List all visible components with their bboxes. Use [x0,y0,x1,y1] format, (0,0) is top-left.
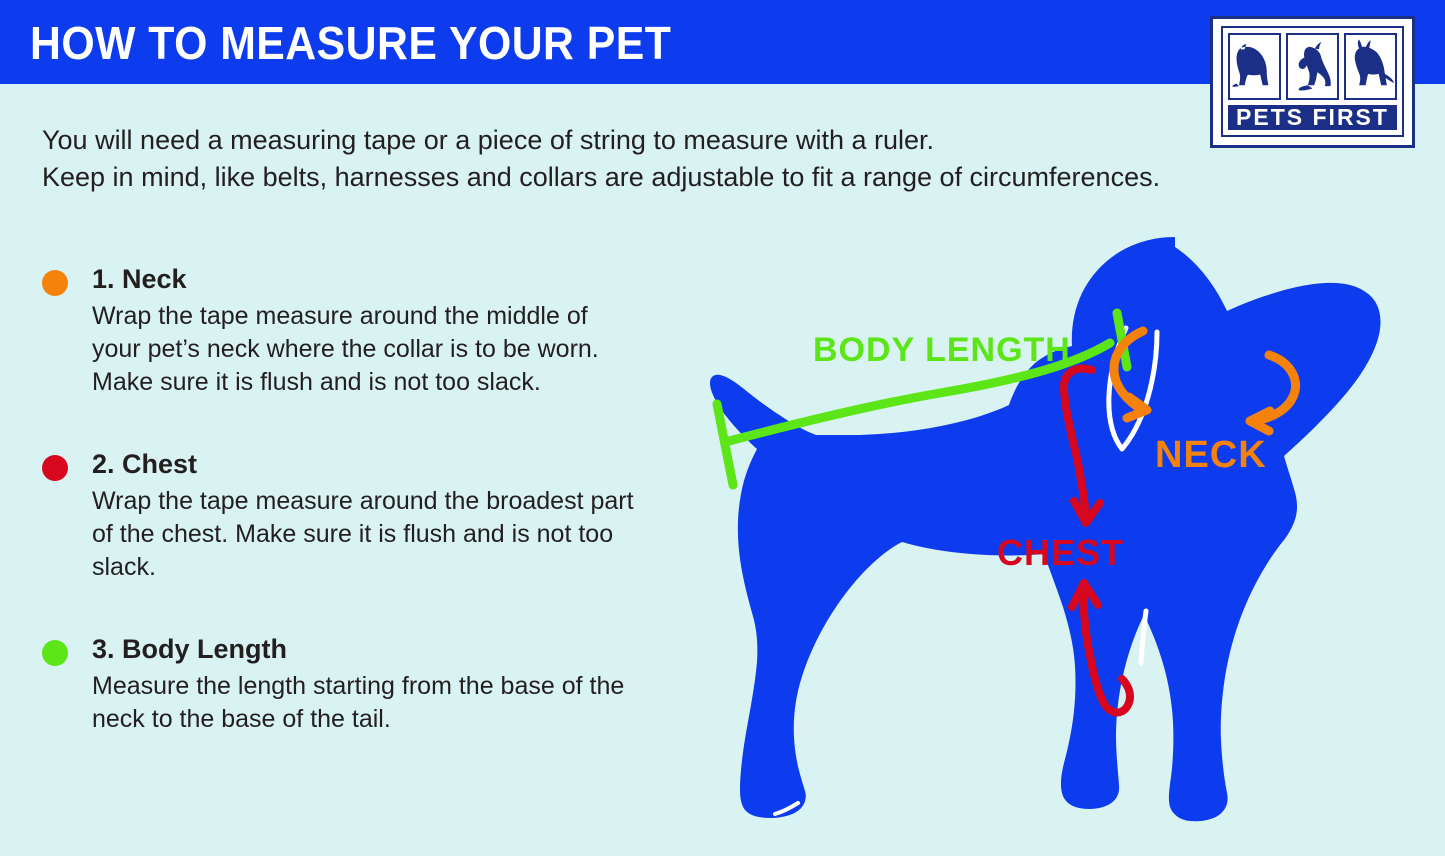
step-item-neck: 1. Neck Wrap the tape measure around the… [42,262,642,399]
brand-logo: PETS FIRST [1210,16,1415,148]
bullet-body-length-icon [42,640,68,666]
step-title-body-length: 3. Body Length [92,632,642,666]
dog-silhouette-icon [710,237,1380,821]
label-neck: NECK [1155,434,1267,476]
bullet-chest-icon [42,455,68,481]
label-chest: CHEST [997,532,1124,573]
step-body-chest: Wrap the tape measure around the broades… [92,485,642,584]
step-body-body-length: Measure the length starting from the bas… [92,670,642,736]
logo-dog-row [1228,33,1397,100]
step-title-neck: 1. Neck [92,262,642,296]
dog-howling-icon [1286,33,1339,100]
step-body-neck: Wrap the tape measure around the middle … [92,300,642,399]
dog-measurement-diagram: BODY LENGTH NECK CHEST [630,215,1445,856]
label-body-length: BODY LENGTH [813,331,1071,369]
infographic-page: HOW TO MEASURE YOUR PET [0,0,1445,856]
bullet-neck-icon [42,270,68,296]
measurement-steps-list: 1. Neck Wrap the tape measure around the… [42,262,642,736]
step-item-body-length: 3. Body Length Measure the length starti… [42,632,642,736]
step-item-chest: 2. Chest Wrap the tape measure around th… [42,447,642,584]
step-title-chest: 2. Chest [92,447,642,481]
page-title: HOW TO MEASURE YOUR PET [30,17,671,69]
intro-text: You will need a measuring tape or a piec… [42,122,1202,196]
dog-sitting-alert-icon [1344,33,1397,100]
intro-line-1: You will need a measuring tape or a piec… [42,122,1202,159]
logo-wordmark: PETS FIRST [1228,105,1397,130]
logo-frame: PETS FIRST [1221,26,1404,137]
dog-sitting-icon [1228,33,1281,100]
intro-line-2: Keep in mind, like belts, harnesses and … [42,159,1202,196]
